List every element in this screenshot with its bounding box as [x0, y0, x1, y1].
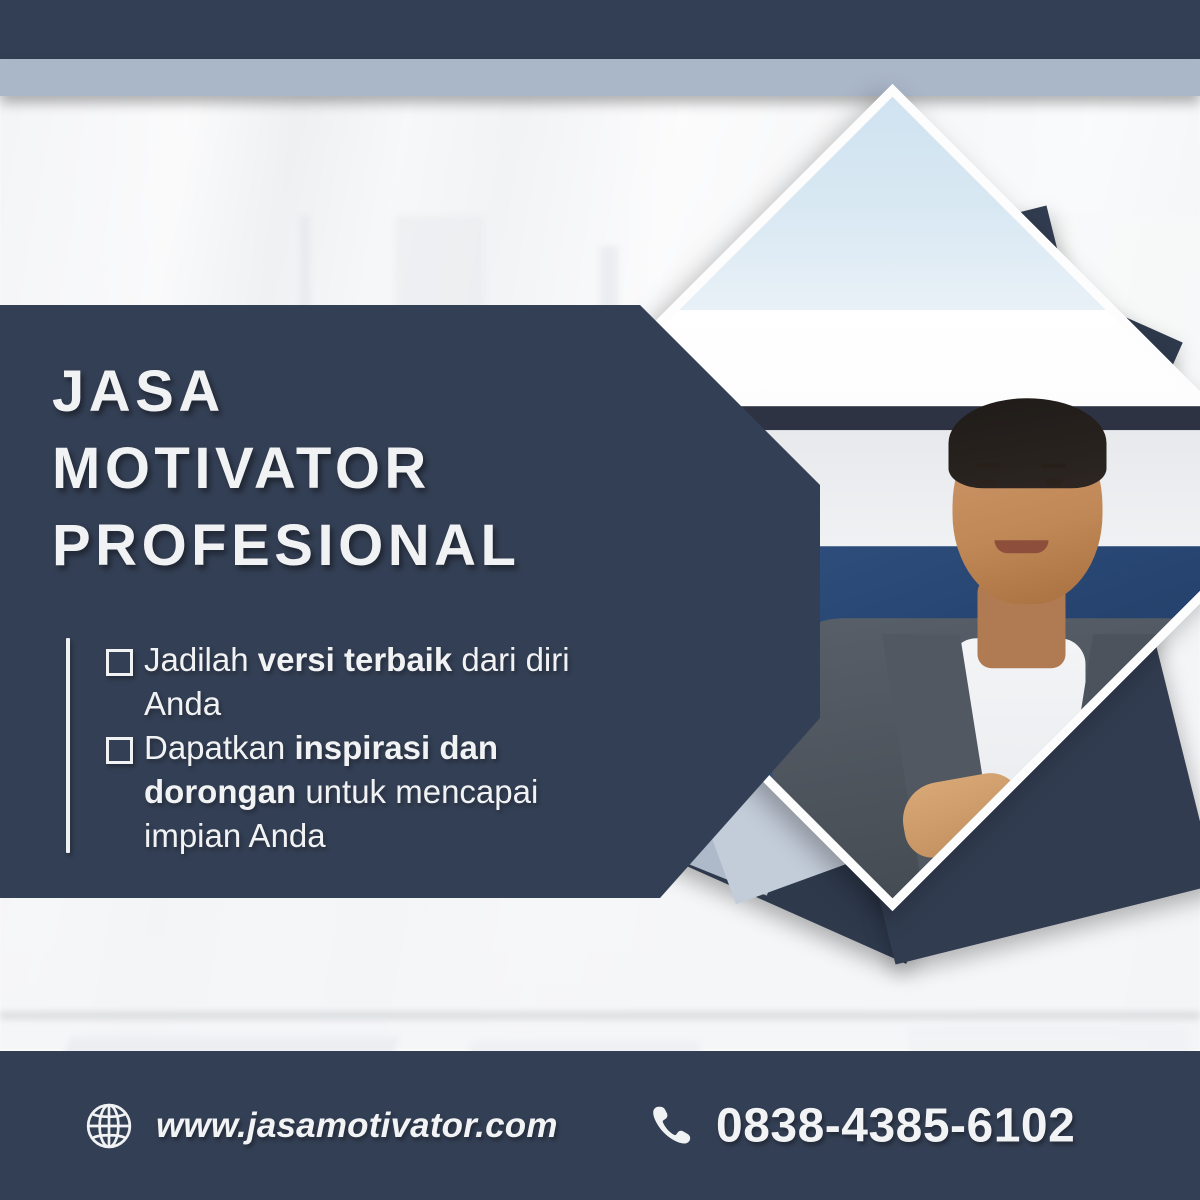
top-bar-light	[0, 59, 1200, 96]
subject-mouth	[995, 540, 1049, 553]
subject-eye-left	[979, 478, 997, 485]
list-item: Dapatkan inspirasi dan dorongan untuk me…	[106, 726, 576, 858]
list-item-text: Jadilah versi terbaik dari diri Anda	[144, 638, 576, 726]
poster-canvas: JASA MOTIVATOR PROFESIONAL Jadilah versi…	[0, 0, 1200, 1200]
page-title: JASA MOTIVATOR PROFESIONAL	[52, 353, 520, 584]
globe-icon	[84, 1101, 134, 1151]
phone-number-text: 0838-4385-6102	[716, 1098, 1075, 1153]
background-streak	[0, 1011, 1200, 1020]
top-bar-dark	[0, 0, 1200, 59]
checkbox-square-icon	[106, 737, 133, 764]
bullet-1-plain-1: Jadilah	[144, 641, 258, 678]
footer-bar: www.jasamotivator.com 0838-4385-6102	[0, 1051, 1200, 1200]
footer-phone-group[interactable]: 0838-4385-6102	[648, 1098, 1075, 1153]
checkbox-square-icon	[106, 649, 133, 676]
subject-eye-right	[1045, 478, 1063, 485]
subject-eyebrow-right	[1041, 463, 1067, 468]
accent-vertical-line	[66, 638, 70, 853]
list-item: Jadilah versi terbaik dari diri Anda	[106, 638, 576, 726]
headline-line-1: JASA	[52, 353, 520, 430]
list-item-text: Dapatkan inspirasi dan dorongan untuk me…	[144, 726, 576, 858]
benefits-block: Jadilah versi terbaik dari diri Anda Dap…	[66, 638, 576, 857]
benefits-list: Jadilah versi terbaik dari diri Anda Dap…	[106, 638, 576, 857]
footer-website-group[interactable]: www.jasamotivator.com	[84, 1101, 558, 1151]
website-text: www.jasamotivator.com	[156, 1106, 558, 1146]
bullet-2-plain-1: Dapatkan	[144, 729, 294, 766]
phone-icon	[648, 1102, 696, 1150]
subject-hair	[949, 398, 1107, 488]
headline-line-2: MOTIVATOR	[52, 430, 520, 507]
headline-line-3: PROFESIONAL	[52, 507, 520, 584]
bullet-1-bold-1: versi terbaik	[258, 641, 452, 678]
subject-eyebrow-left	[975, 463, 1001, 468]
